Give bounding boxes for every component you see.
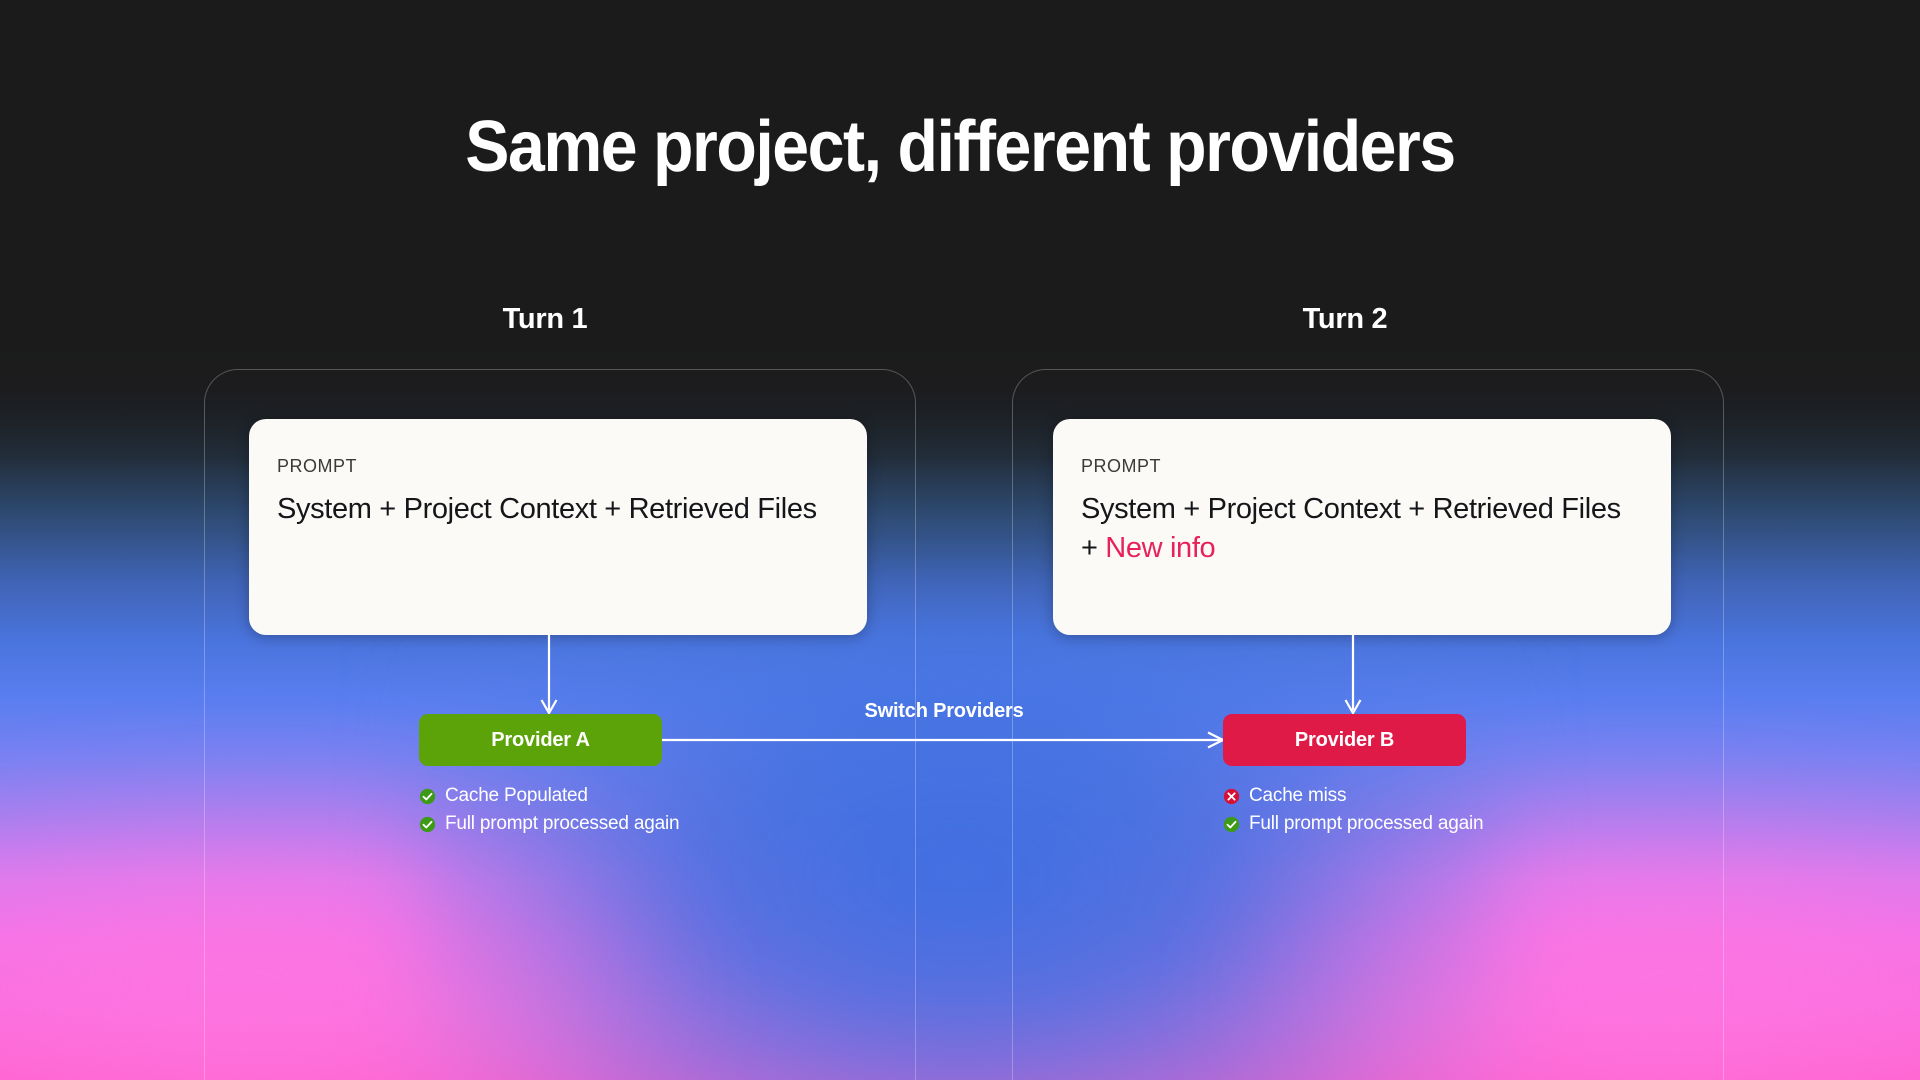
arrow-down-turn-1	[538, 634, 560, 716]
turn-1-status-list: Cache Populated Full prompt processed ag…	[419, 785, 679, 841]
arrow-down-turn-2	[1342, 634, 1364, 716]
prompt-body-text: System + Project Context + Retrieved Fil…	[277, 493, 817, 525]
prompt-body: System + Project Context + Retrieved Fil…	[277, 490, 839, 529]
provider-a-label: Provider A	[491, 729, 589, 752]
list-item: Cache miss	[1223, 785, 1483, 807]
prompt-kicker: PROMPT	[1081, 456, 1643, 477]
list-item: Cache Populated	[419, 785, 679, 807]
provider-b-label: Provider B	[1295, 729, 1394, 752]
provider-b-button[interactable]: Provider B	[1223, 714, 1466, 766]
list-item: Full prompt processed again	[419, 813, 679, 835]
check-circle-icon	[419, 816, 436, 833]
check-circle-icon	[419, 788, 436, 805]
page-title: Same project, different providers	[77, 106, 1843, 188]
prompt-kicker: PROMPT	[277, 456, 839, 477]
turn-1-label: Turn 1	[445, 303, 645, 336]
list-item-label: Cache miss	[1249, 785, 1346, 807]
turn-2-label: Turn 2	[1245, 303, 1445, 336]
switch-providers-label: Switch Providers	[662, 700, 1226, 723]
prompt-body-highlight: New info	[1105, 532, 1215, 564]
list-item-label: Full prompt processed again	[1249, 813, 1483, 835]
list-item-label: Cache Populated	[445, 785, 588, 807]
list-item-label: Full prompt processed again	[445, 813, 679, 835]
list-item: Full prompt processed again	[1223, 813, 1483, 835]
check-circle-icon	[1223, 816, 1240, 833]
x-circle-icon	[1223, 788, 1240, 805]
prompt-body: System + Project Context + Retrieved Fil…	[1081, 490, 1643, 569]
prompt-card-turn-2: PROMPT System + Project Context + Retrie…	[1053, 419, 1671, 635]
provider-a-button[interactable]: Provider A	[419, 714, 662, 766]
arrow-right-switch-providers	[662, 730, 1226, 750]
prompt-card-turn-1: PROMPT System + Project Context + Retrie…	[249, 419, 867, 635]
turn-2-status-list: Cache miss Full prompt processed again	[1223, 785, 1483, 841]
